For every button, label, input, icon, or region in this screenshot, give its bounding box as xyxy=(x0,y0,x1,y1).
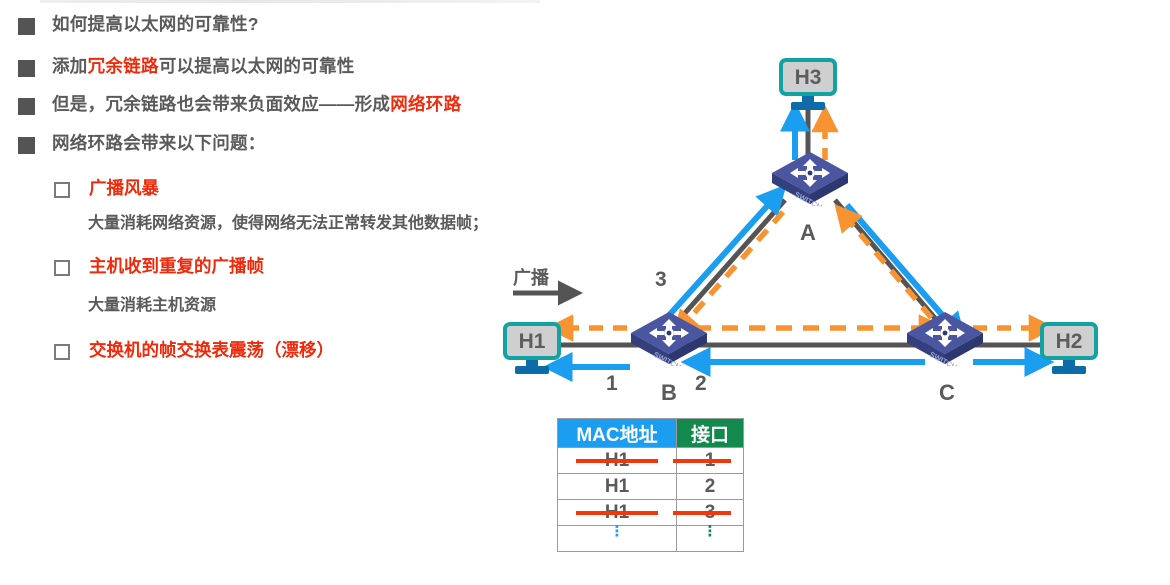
table-row: H1 3 xyxy=(558,500,744,526)
bullet-text-3-highlight: 网络环路 xyxy=(390,94,461,114)
host-base-icon xyxy=(515,366,549,374)
problem-title-3: 交换机的帧交换表震荡（漂移） xyxy=(89,341,334,360)
table-header-interface: 接口 xyxy=(677,419,744,448)
checkbox-icon[interactable] xyxy=(54,344,70,360)
bullet-row-2: 添加冗余链路可以提高以太网的可靠性 xyxy=(18,57,355,77)
bullet-text-4: 网络环路会带来以下问题： xyxy=(52,133,266,153)
switch-label-b: B xyxy=(661,380,677,406)
problem-row-1: 广播风暴 xyxy=(54,179,159,198)
host-h3[interactable]: H3 xyxy=(779,58,837,110)
table-header-row: MAC地址 接口 xyxy=(558,419,744,448)
switch-label-a: A xyxy=(800,220,816,246)
strikethrough-line xyxy=(576,511,658,515)
host-base-icon xyxy=(791,102,825,110)
switch-b[interactable]: SWITCH xyxy=(627,310,711,366)
table-row: H1 1 xyxy=(558,448,744,474)
host-h2[interactable]: H2 xyxy=(1040,322,1098,374)
bullet-text-3-pre: 但是，冗余链路也会带来负面效应——形成 xyxy=(52,94,390,114)
problem-detail-1: 大量消耗网络资源，使得网络无法正常转发其他数据帧； xyxy=(88,215,488,233)
table-row: H1 2 xyxy=(558,474,744,500)
host-label-h1: H1 xyxy=(519,331,546,352)
cell-interface: ⋮ xyxy=(677,526,744,552)
bullet-row-3: 但是，冗余链路也会带来负面效应——形成网络环路 xyxy=(18,95,461,115)
cell-mac: H1 xyxy=(558,448,677,474)
port-label-2: 2 xyxy=(695,372,707,396)
problem-row-2: 主机收到重复的广播帧 xyxy=(54,257,264,276)
switch-a[interactable]: SWITCH xyxy=(768,150,852,206)
bullet-text-1: 如何提高以太网的可靠性? xyxy=(52,14,259,34)
broadcast-label: 广播 xyxy=(513,264,549,290)
cell-interface-value: 2 xyxy=(705,476,716,497)
network-diagram: H3 H1 H2 xyxy=(495,40,1170,420)
cell-mac: ⋮ xyxy=(558,526,677,552)
switch-icon: SWITCH xyxy=(627,310,711,366)
problem-title-2: 主机收到重复的广播帧 xyxy=(89,257,264,276)
host-h1[interactable]: H1 xyxy=(503,322,561,374)
bullet-row-1: 如何提高以太网的可靠性? xyxy=(18,15,259,35)
host-screen-icon: H3 xyxy=(779,58,837,96)
checkbox-icon[interactable] xyxy=(54,182,70,198)
switch-c[interactable]: SWITCH xyxy=(903,310,987,366)
bullet-row-4: 网络环路会带来以下问题： xyxy=(18,134,266,154)
table-row: ⋮ ⋮ xyxy=(558,526,744,552)
bullet-square-icon xyxy=(18,18,35,35)
strikethrough-line xyxy=(673,459,731,463)
port-label-3: 3 xyxy=(655,268,667,292)
slide-root: 如何提高以太网的可靠性? 添加冗余链路可以提高以太网的可靠性 但是，冗余链路也会… xyxy=(0,0,1170,585)
problem-detail-2: 大量消耗主机资源 xyxy=(88,297,216,315)
table-header-mac: MAC地址 xyxy=(558,419,677,448)
checkbox-icon[interactable] xyxy=(54,260,70,276)
host-screen-icon: H2 xyxy=(1040,322,1098,360)
bullet-square-icon xyxy=(18,60,35,77)
cell-mac: H1 xyxy=(558,474,677,500)
port-label-1: 1 xyxy=(606,372,618,396)
switch-label-c: C xyxy=(939,380,955,406)
cell-mac-value: H1 xyxy=(605,476,629,497)
bullet-text-2-highlight: 冗余链路 xyxy=(88,56,159,76)
problem-row-3: 交换机的帧交换表震荡（漂移） xyxy=(54,341,334,360)
bullet-text-2-pre: 添加 xyxy=(52,56,88,76)
cell-interface: 3 xyxy=(677,500,744,526)
bullet-text-2-post: 可以提高以太网的可靠性 xyxy=(159,56,355,76)
host-label-h3: H3 xyxy=(795,67,822,88)
cell-mac: H1 xyxy=(558,500,677,526)
cell-interface: 2 xyxy=(677,474,744,500)
bullet-square-icon xyxy=(18,137,35,154)
switch-icon: SWITCH xyxy=(903,310,987,366)
host-base-icon xyxy=(1052,366,1086,374)
host-screen-icon: H1 xyxy=(503,322,561,360)
problem-title-1: 广播风暴 xyxy=(89,179,159,198)
cell-mac-ellipsis: ⋮ xyxy=(558,526,676,537)
switch-icon: SWITCH xyxy=(768,150,852,206)
bullet-square-icon xyxy=(18,98,35,115)
mac-address-table: MAC地址 接口 H1 1 H1 2 H1 3 xyxy=(557,418,744,552)
strikethrough-line xyxy=(576,459,658,463)
cell-interface-ellipsis: ⋮ xyxy=(677,526,743,537)
cell-interface: 1 xyxy=(677,448,744,474)
host-label-h2: H2 xyxy=(1056,331,1083,352)
strikethrough-line xyxy=(673,511,731,515)
